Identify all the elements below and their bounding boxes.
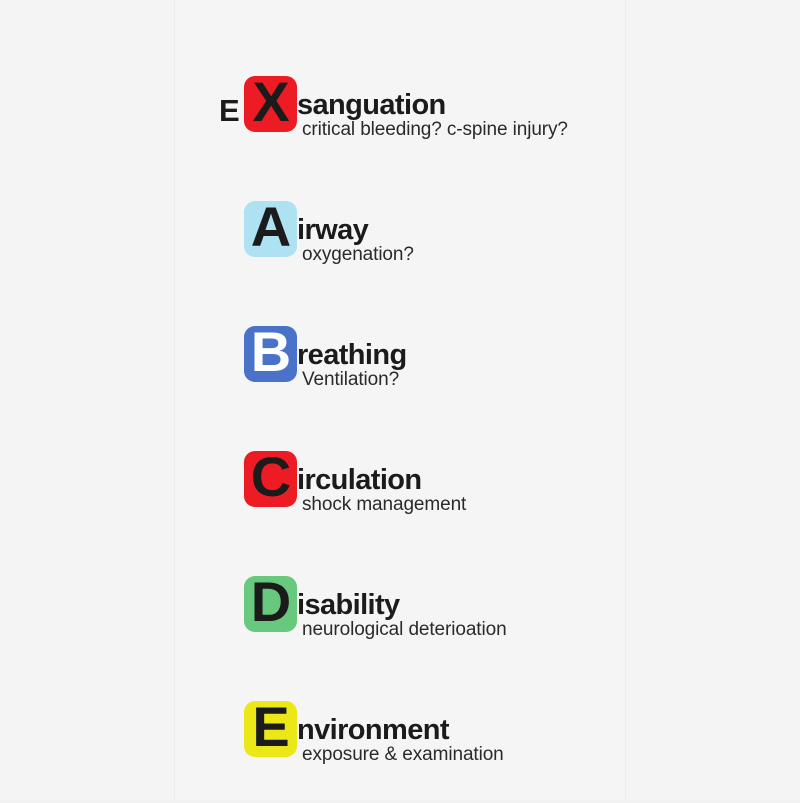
mnemonic-row-environment[interactable]: E nvironment exposure & examination: [0, 693, 800, 803]
item-subtitle: oxygenation?: [302, 245, 414, 264]
item-subtitle: neurological deterioation: [302, 620, 507, 639]
assessment-mnemonic-canvas: E X sanguation critical bleeding? c-spin…: [0, 0, 800, 800]
mnemonic-row-exsanguation[interactable]: E X sanguation critical bleeding? c-spin…: [0, 68, 800, 178]
item-title: nvironment: [297, 716, 449, 745]
item-subtitle: critical bleeding? c-spine injury?: [302, 120, 568, 139]
tile-letter: E: [252, 701, 288, 755]
item-subtitle: exposure & examination: [302, 745, 504, 764]
tile-environment[interactable]: E: [244, 701, 297, 757]
tile-circulation[interactable]: C: [244, 451, 297, 507]
item-subtitle: Ventilation?: [302, 370, 399, 389]
tile-airway[interactable]: A: [244, 201, 297, 257]
item-title: irway: [297, 216, 368, 245]
mnemonic-row-disability[interactable]: D isability neurological deterioation: [0, 568, 800, 678]
item-title: isability: [297, 591, 400, 620]
item-title: irculation: [297, 466, 422, 495]
prefix-letter: E: [219, 95, 239, 126]
item-subtitle: shock management: [302, 495, 466, 514]
tile-letter: B: [251, 326, 290, 380]
item-title: sanguation: [297, 91, 446, 120]
mnemonic-list: E X sanguation critical bleeding? c-spin…: [0, 0, 800, 800]
tile-exsanguation[interactable]: X: [244, 76, 297, 132]
mnemonic-row-circulation[interactable]: C irculation shock management: [0, 443, 800, 553]
tile-breathing[interactable]: B: [244, 326, 297, 382]
tile-letter: C: [251, 451, 290, 505]
mnemonic-row-airway[interactable]: A irway oxygenation?: [0, 193, 800, 303]
mnemonic-row-breathing[interactable]: B reathing Ventilation?: [0, 318, 800, 428]
item-title: reathing: [297, 341, 407, 370]
tile-letter: A: [251, 201, 290, 255]
tile-letter: X: [252, 76, 288, 130]
tile-disability[interactable]: D: [244, 576, 297, 632]
tile-letter: D: [251, 576, 290, 630]
